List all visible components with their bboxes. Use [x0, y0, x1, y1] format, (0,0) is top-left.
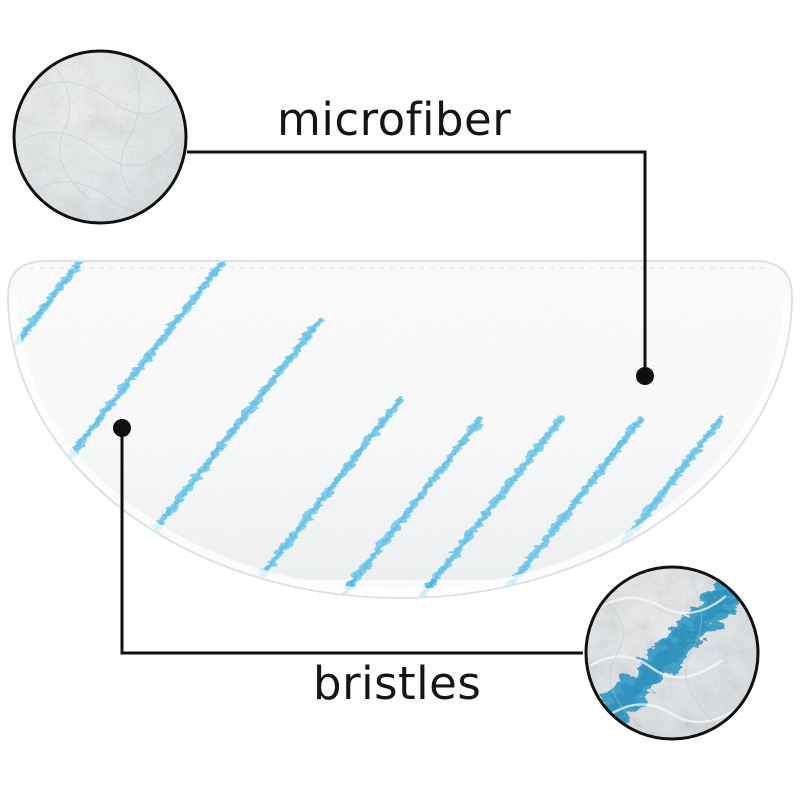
diagram-canvas: microfiber bristles [0, 0, 800, 800]
annotation-label-microfiber: microfiber [277, 97, 511, 142]
annotation-label-bristles: bristles [313, 661, 481, 706]
bristles-texture [582, 563, 764, 745]
